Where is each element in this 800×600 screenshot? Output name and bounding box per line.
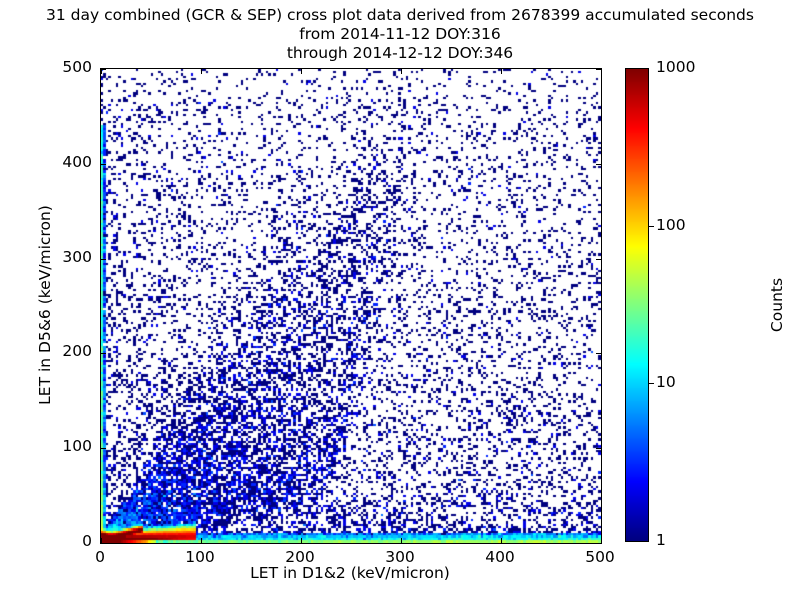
x-tick-100 (201, 538, 202, 543)
y-tick-100 (101, 448, 106, 449)
x-tick-top-500 (601, 69, 602, 74)
x-tick-400 (501, 538, 502, 543)
title-line-2: from 2014-11-12 DOY:316 (0, 25, 800, 44)
colorbar-ticklabel-10: 10 (656, 373, 676, 391)
y-tick-0 (101, 543, 106, 544)
x-tick-300 (401, 538, 402, 543)
x-tick-top-0 (101, 69, 102, 74)
colorbar-ticklabel-1: 1 (656, 531, 666, 549)
y-tick-right-300 (596, 259, 601, 260)
x-tick-0 (101, 538, 102, 543)
y-tick-300 (101, 259, 106, 260)
colorbar-gradient (625, 68, 649, 542)
y-tick-400 (101, 164, 106, 165)
x-tick-200 (301, 538, 302, 543)
scatter-heatmap (101, 69, 601, 543)
x-tick-top-100 (201, 69, 202, 74)
chart-title: 31 day combined (GCR & SEP) cross plot d… (0, 6, 800, 63)
colorbar-tick-10 (649, 383, 654, 384)
y-tick-right-0 (596, 543, 601, 544)
x-tick-500 (601, 538, 602, 543)
y-axis-label: LET in D5&6 (keV/micron) (36, 95, 54, 515)
title-line-1: 31 day combined (GCR & SEP) cross plot d… (0, 6, 800, 25)
x-axis-label: LET in D1&2 (keV/micron) (100, 564, 600, 582)
figure-canvas: 31 day combined (GCR & SEP) cross plot d… (0, 0, 800, 600)
colorbar-tick-100 (649, 226, 654, 227)
y-tick-200 (101, 353, 106, 354)
y-tick-right-200 (596, 353, 601, 354)
x-tick-top-400 (501, 69, 502, 74)
y-tick-right-100 (596, 448, 601, 449)
colorbar-label: Counts (768, 95, 786, 515)
y-tick-right-400 (596, 164, 601, 165)
x-tick-top-300 (401, 69, 402, 74)
plot-area (100, 68, 602, 544)
colorbar: 1101001000 (625, 68, 649, 542)
colorbar-ticklabel-1000: 1000 (656, 58, 695, 76)
x-tick-top-200 (301, 69, 302, 74)
y-ticklabel-500: 500 (0, 58, 92, 76)
colorbar-ticklabel-100: 100 (656, 216, 686, 234)
